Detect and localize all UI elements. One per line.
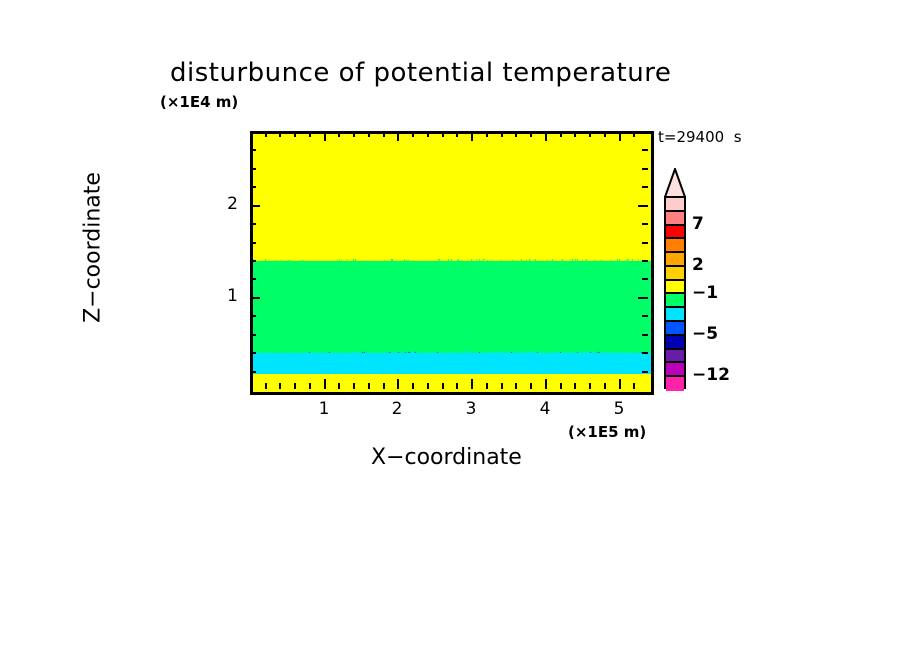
x-minor-tick-top xyxy=(442,131,444,137)
colorbar-segment xyxy=(666,198,684,212)
y-minor-tick xyxy=(250,278,256,280)
x-minor-tick xyxy=(574,383,576,389)
region-cyan-layer xyxy=(253,353,651,374)
x-minor-tick-top xyxy=(368,131,370,137)
y-minor-tick xyxy=(250,186,256,188)
x-minor-tick xyxy=(456,383,458,389)
x-minor-tick-top xyxy=(383,131,385,137)
x-minor-tick xyxy=(368,383,370,389)
region-middle-layer xyxy=(253,261,651,353)
x-minor-tick-top xyxy=(265,131,267,137)
colorbar-segment xyxy=(666,226,684,240)
x-tick-label: 4 xyxy=(525,399,565,419)
x-minor-tick-top xyxy=(353,131,355,137)
region-bottom-layer xyxy=(253,374,651,392)
y-tick-label: 1 xyxy=(210,286,238,306)
x-minor-tick xyxy=(353,383,355,389)
x-minor-tick xyxy=(427,383,429,389)
x-minor-tick xyxy=(604,383,606,389)
time-annotation: t=29400 s xyxy=(658,128,742,146)
x-minor-tick xyxy=(309,383,311,389)
x-minor-tick xyxy=(279,383,281,389)
x-major-tick xyxy=(545,379,547,389)
y-minor-tick-right xyxy=(642,260,648,262)
y-major-tick xyxy=(250,205,260,207)
x-tick-label: 1 xyxy=(304,399,344,419)
figure-canvas: disturbunce of potential temperature (×1… xyxy=(0,0,904,654)
y-minor-tick xyxy=(250,242,256,244)
y-minor-tick-right xyxy=(642,149,648,151)
x-tick-label: 5 xyxy=(599,399,639,419)
x-minor-tick-top xyxy=(412,131,414,137)
x-minor-tick-top xyxy=(427,131,429,137)
colorbar-segment xyxy=(666,267,684,281)
x-major-tick xyxy=(397,379,399,389)
x-major-tick-top xyxy=(619,131,621,141)
x-minor-tick-top xyxy=(309,131,311,137)
plot-area xyxy=(250,131,654,395)
y-minor-tick xyxy=(250,371,256,373)
x-minor-tick-top xyxy=(294,131,296,137)
colorbar xyxy=(664,196,686,389)
colorbar-segment xyxy=(666,377,684,391)
x-minor-tick-top xyxy=(456,131,458,137)
y-minor-tick-right xyxy=(642,242,648,244)
x-minor-tick-top xyxy=(486,131,488,137)
y-axis-title: Z−coordinate xyxy=(81,148,106,348)
y-minor-tick xyxy=(250,352,256,354)
x-tick-label: 2 xyxy=(377,399,417,419)
y-major-tick xyxy=(250,297,260,299)
x-minor-tick xyxy=(265,383,267,389)
y-tick-label: 2 xyxy=(210,194,238,214)
x-minor-tick-top xyxy=(589,131,591,137)
colorbar-segment xyxy=(666,308,684,322)
y-major-tick-right xyxy=(638,297,648,299)
x-minor-tick-top xyxy=(279,131,281,137)
x-minor-tick xyxy=(530,383,532,389)
colorbar-tick-label: −5 xyxy=(692,324,718,344)
x-major-tick xyxy=(619,379,621,389)
colorbar-segment xyxy=(666,322,684,336)
x-minor-tick xyxy=(560,383,562,389)
colorbar-segment xyxy=(666,281,684,295)
x-minor-tick xyxy=(501,383,503,389)
x-minor-tick xyxy=(338,383,340,389)
x-major-tick-top xyxy=(471,131,473,141)
colorbar-tick-label: −1 xyxy=(692,283,718,303)
x-minor-tick xyxy=(383,383,385,389)
x-minor-tick xyxy=(412,383,414,389)
chart-title: disturbunce of potential temperature xyxy=(170,58,671,88)
region-upper-layer xyxy=(253,134,651,261)
x-minor-tick xyxy=(633,383,635,389)
colorbar-tick-label: −12 xyxy=(692,365,730,385)
y-minor-tick xyxy=(250,315,256,317)
y-minor-tick-right xyxy=(642,223,648,225)
colorbar-over-arrow xyxy=(664,168,686,198)
y-minor-tick-right xyxy=(642,334,648,336)
y-minor-tick-right xyxy=(642,315,648,317)
colorbar-segment xyxy=(666,212,684,226)
x-minor-tick-top xyxy=(574,131,576,137)
colorbar-tick-label: 7 xyxy=(692,214,704,234)
x-minor-tick xyxy=(515,383,517,389)
x-major-tick xyxy=(324,379,326,389)
y-minor-tick-right xyxy=(642,278,648,280)
x-major-tick xyxy=(471,379,473,389)
y-minor-tick xyxy=(250,168,256,170)
x-minor-tick-top xyxy=(338,131,340,137)
x-major-tick-top xyxy=(397,131,399,141)
x-minor-tick xyxy=(442,383,444,389)
colorbar-segment xyxy=(666,253,684,267)
x-minor-tick-top xyxy=(515,131,517,137)
y-minor-tick-right xyxy=(642,352,648,354)
x-minor-tick-top xyxy=(530,131,532,137)
x-minor-tick-top xyxy=(604,131,606,137)
y-minor-tick xyxy=(250,260,256,262)
x-major-tick-top xyxy=(324,131,326,141)
x-tick-label: 3 xyxy=(451,399,491,419)
x-major-tick-top xyxy=(545,131,547,141)
y-axis-unit-label: (×1E4 m) xyxy=(160,93,238,111)
colorbar-tick-label: 2 xyxy=(692,255,704,275)
y-minor-tick xyxy=(250,334,256,336)
x-minor-tick xyxy=(294,383,296,389)
x-minor-tick-top xyxy=(501,131,503,137)
colorbar-segment xyxy=(666,350,684,364)
y-minor-tick-right xyxy=(642,168,648,170)
y-minor-tick-right xyxy=(642,186,648,188)
y-minor-tick-right xyxy=(642,371,648,373)
x-minor-tick-top xyxy=(633,131,635,137)
x-minor-tick xyxy=(589,383,591,389)
colorbar-segment xyxy=(666,239,684,253)
colorbar-segment xyxy=(666,336,684,350)
colorbar-segment xyxy=(666,294,684,308)
x-minor-tick xyxy=(486,383,488,389)
y-minor-tick xyxy=(250,149,256,151)
x-axis-unit-label: (×1E5 m) xyxy=(568,423,646,441)
y-minor-tick xyxy=(250,223,256,225)
colorbar-segment xyxy=(666,363,684,377)
x-minor-tick-top xyxy=(560,131,562,137)
y-major-tick-right xyxy=(638,205,648,207)
x-axis-title: X−coordinate xyxy=(371,445,522,470)
